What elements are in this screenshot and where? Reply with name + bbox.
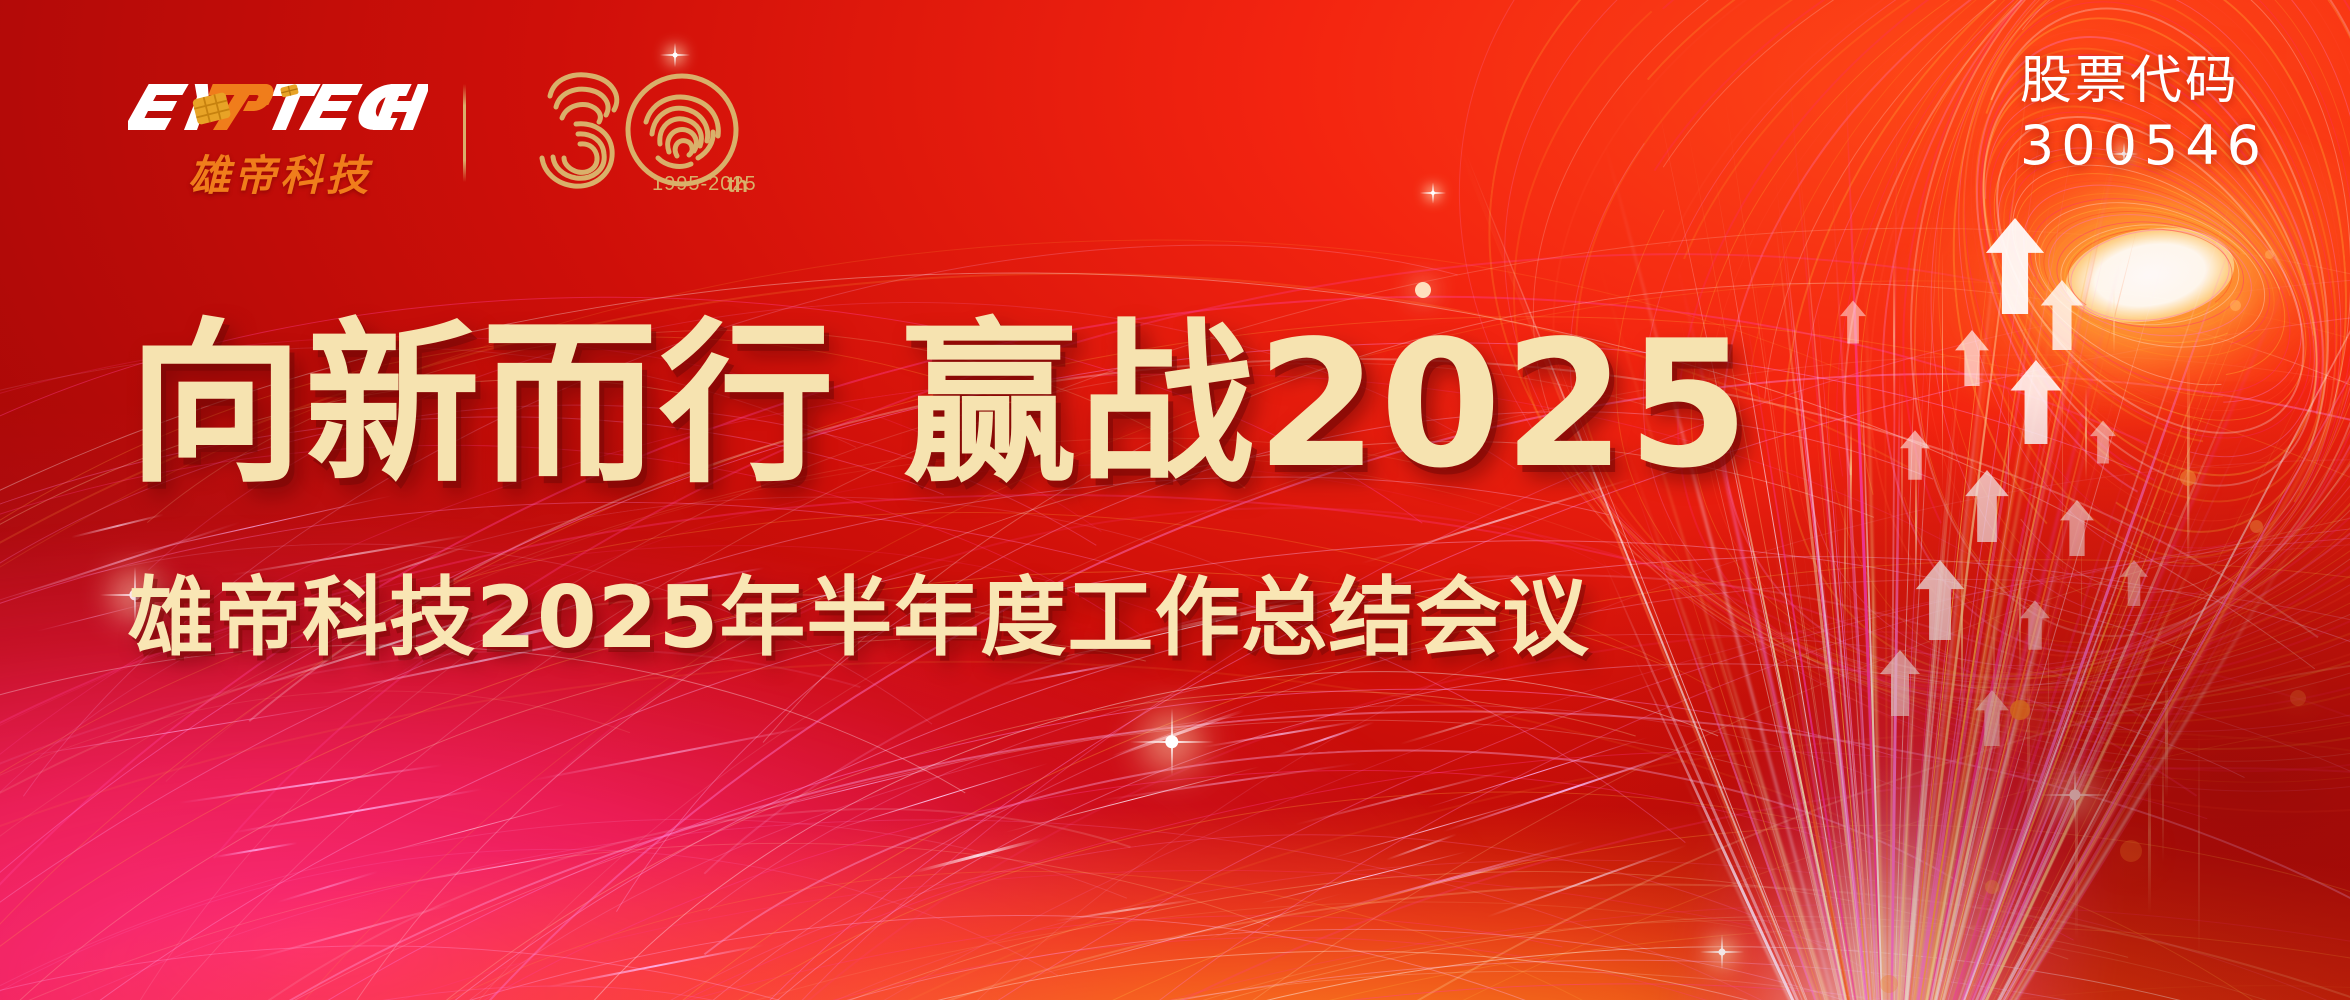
headline: 向新而行 赢战2025: [128, 318, 1751, 493]
anniversary-suffix-text: th: [727, 172, 748, 197]
stock-code-number: 300546: [2020, 116, 2268, 176]
event-subtitle: 雄帝科技2025年半年度工作总结会议: [128, 575, 1589, 661]
stock-code-label: 股票代码: [2020, 52, 2268, 110]
anniversary-emblem-30th: 1995-2025 th: [530, 62, 770, 202]
headline-part-2: 赢战2025: [902, 318, 1751, 493]
logo-chinese-name: 雄帝科技: [188, 142, 428, 203]
banner-canvas: 雄帝科技: [0, 0, 2350, 1000]
stock-code-block: 股票代码 300546: [2020, 52, 2268, 177]
logo-wordmark-emptech: [128, 78, 428, 140]
logo-divider: [463, 84, 466, 182]
headline-part-1: 向新而行: [128, 318, 836, 493]
company-logo[interactable]: 雄帝科技: [128, 78, 428, 203]
